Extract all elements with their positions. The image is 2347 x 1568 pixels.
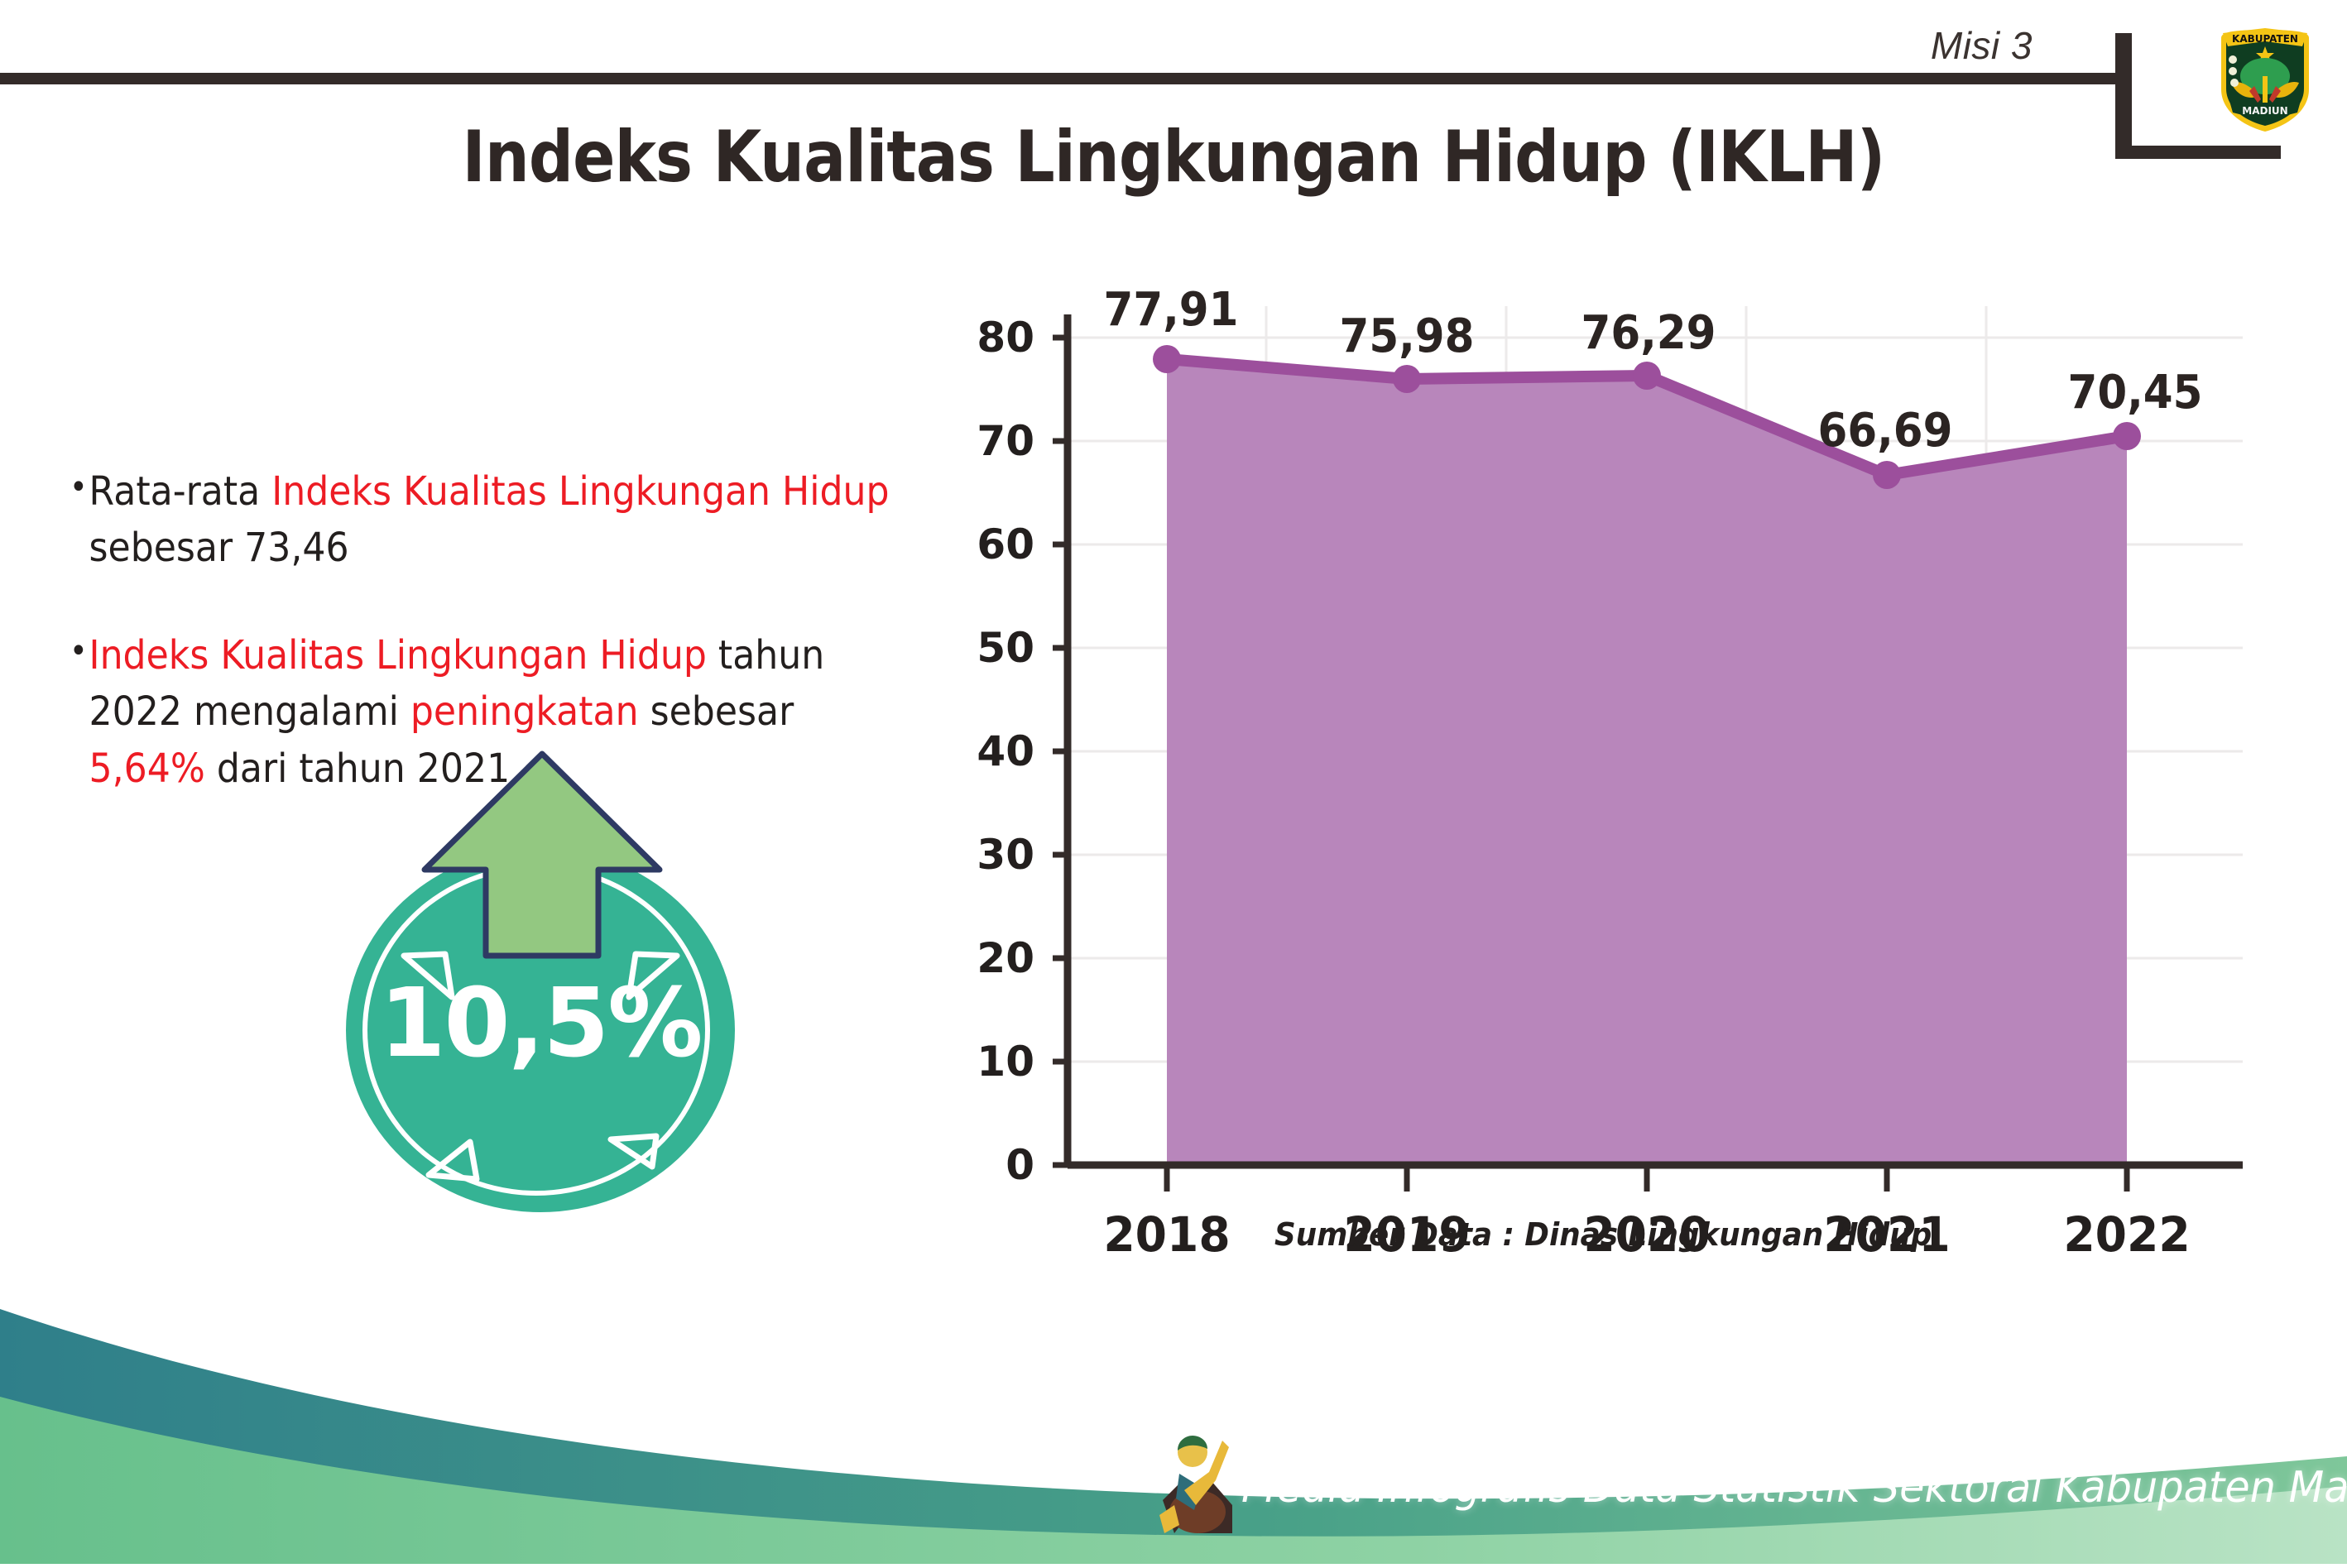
y-tick-label: 0 — [927, 1141, 1034, 1189]
header-divider-line — [0, 73, 2119, 84]
bullet-2-highlight-3: 5,64% — [89, 746, 205, 792]
page-title: Indeks Kualitas Lingkungan Hidup (IKLH) — [141, 116, 2206, 199]
bullet-1-highlight: Indeks Kualitas Lingkungan Hidup — [271, 468, 889, 515]
kabupaten-madiun-emblem-icon: KABUPATEN MADIUN — [2211, 10, 2319, 134]
chart-canvas — [977, 298, 2243, 1216]
bullet-1-segment-3: sebesar 73,46 — [89, 525, 349, 571]
svg-text:KABUPATEN: KABUPATEN — [2232, 33, 2298, 45]
iklh-area-chart: 80 70 60 50 40 30 20 10 0 2018 2019 2020… — [977, 298, 2243, 1216]
data-label: 75,98 — [1340, 309, 1475, 363]
y-tick-label: 80 — [927, 314, 1034, 362]
y-tick-label: 20 — [927, 934, 1034, 982]
y-tick-label: 10 — [927, 1038, 1034, 1086]
svg-text:MADIUN: MADIUN — [2242, 105, 2287, 117]
data-label: 76,29 — [1581, 306, 1716, 360]
y-tick-label: 60 — [927, 520, 1034, 568]
bullet-dot-icon: • — [70, 463, 88, 511]
misi-label: Misi 3 — [1931, 23, 2033, 68]
bullet-2-highlight-2: peningkatan — [410, 688, 639, 735]
data-label: 77,91 — [1104, 283, 1239, 337]
badge-value: 10,5% — [346, 968, 735, 1079]
bullet-1-segment-1: Rata-rata — [89, 468, 272, 515]
increase-badge: 10,5% — [323, 749, 761, 1212]
y-tick-label: 50 — [927, 624, 1034, 672]
chart-area-fill — [1167, 359, 2127, 1165]
y-tick-label: 30 — [927, 831, 1034, 879]
bullet-2-segment-4: sebesar — [639, 688, 794, 735]
bullet-2-highlight-1: Indeks Kualitas Lingkungan Hidup — [89, 632, 707, 679]
arrow-up-icon — [418, 749, 666, 1005]
x-tick-label: 2018 — [1065, 1206, 1269, 1263]
y-tick-label: 40 — [927, 727, 1034, 775]
chart-x-ticks — [1167, 1165, 2127, 1192]
list-item: • Rata-rata Indeks Kualitas Lingkungan H… — [70, 463, 900, 576]
chart-source-note: Sumber Data : Dinas Lingkungan Hidup — [1274, 1216, 1932, 1253]
data-label: 66,69 — [1818, 404, 1953, 458]
media-infografis-logo-icon — [1146, 1429, 1245, 1541]
x-tick-label: 2022 — [2025, 1206, 2229, 1263]
data-label: 70,45 — [2068, 366, 2203, 420]
y-tick-label: 70 — [927, 417, 1034, 465]
bullet-dot-icon: • — [70, 627, 88, 675]
footer-text: Media Infografis Data Statistik Sektoral… — [1241, 1463, 2347, 1513]
